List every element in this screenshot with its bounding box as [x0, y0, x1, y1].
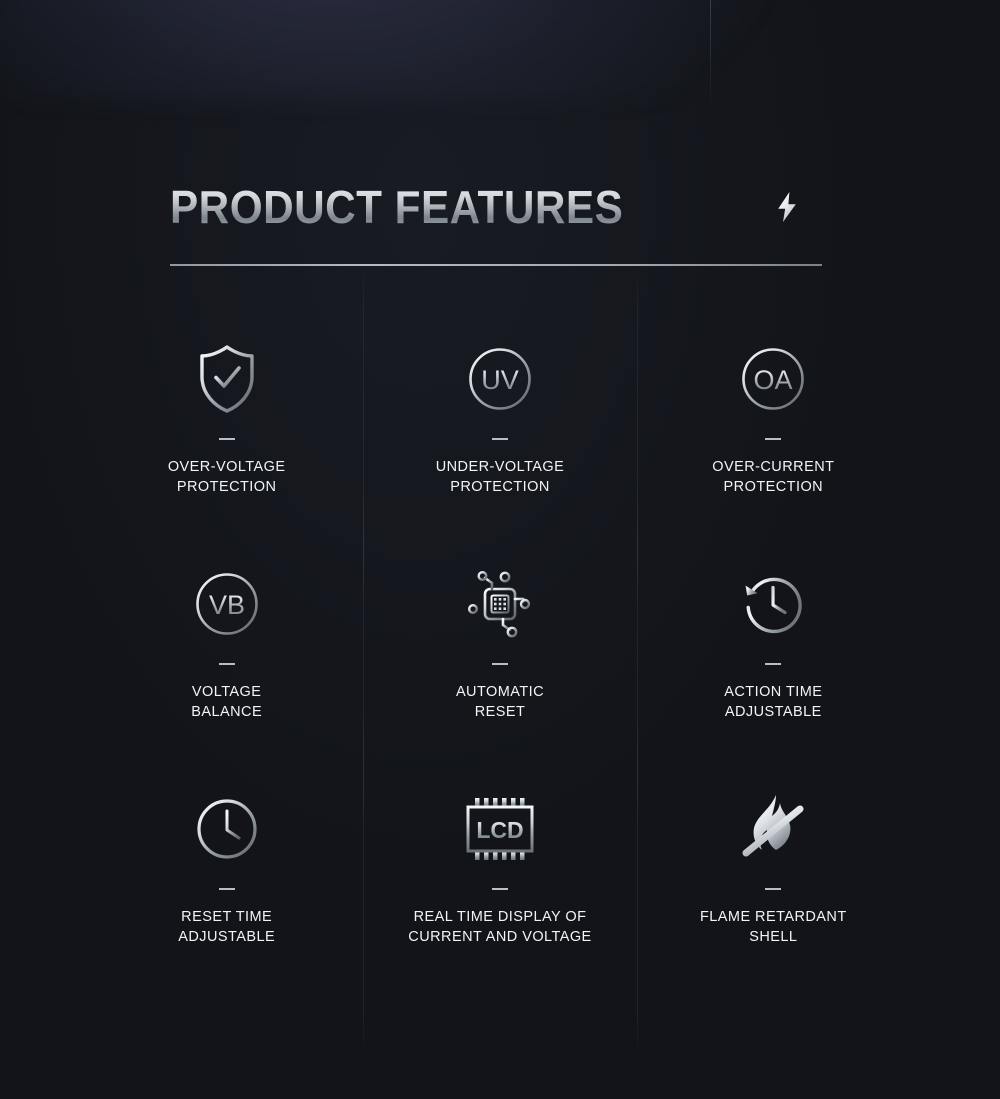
feature-dash: [219, 663, 235, 665]
feature-dash: [492, 888, 508, 890]
feature-item-flame-retardant-shell[interactable]: FLAME RETARDANT SHELL: [637, 772, 910, 997]
feature-dash: [492, 663, 508, 665]
feature-item-action-time-adjustable[interactable]: ACTION TIME ADJUSTABLE: [637, 547, 910, 772]
feature-label: REAL TIME DISPLAY OF CURRENT AND VOLTAGE: [408, 908, 591, 947]
feature-label: FLAME RETARDANT SHELL: [700, 908, 847, 947]
no-flame-icon: [738, 790, 808, 868]
clock-icon: [196, 790, 258, 868]
feature-item-over-voltage-protection[interactable]: OVER-VOLTAGE PROTECTION: [90, 322, 363, 547]
feature-item-reset-time-adjustable[interactable]: RESET TIME ADJUSTABLE: [90, 772, 363, 997]
feature-label: RESET TIME ADJUSTABLE: [178, 908, 275, 947]
oa-badge-text: OA: [754, 365, 793, 395]
uv-badge-text: UV: [481, 365, 519, 395]
feature-item-voltage-balance[interactable]: VB VOLTAGE BALANCE: [90, 547, 363, 772]
feature-dash: [219, 888, 235, 890]
lightning-bolt-icon: [776, 192, 798, 222]
feature-label: OVER-VOLTAGE PROTECTION: [168, 458, 286, 497]
features-grid: OVER-VOLTAGE PROTECTION UV UNDER-VOLTAGE…: [90, 322, 910, 997]
feature-dash: [765, 888, 781, 890]
microchip-icon: [465, 565, 535, 643]
lcd-badge-text: LCD: [476, 817, 523, 843]
feature-label: AUTOMATIC RESET: [456, 683, 544, 722]
header-divider: [170, 264, 822, 266]
vb-circle-icon: VB: [194, 565, 260, 643]
header-seam-decoration: [710, 0, 711, 112]
page-title: PRODUCT FEATURES: [170, 184, 623, 230]
uv-circle-icon: UV: [467, 340, 533, 418]
oa-circle-icon: OA: [740, 340, 806, 418]
feature-item-under-voltage-protection[interactable]: UV UNDER-VOLTAGE PROTECTION: [363, 322, 636, 547]
feature-dash: [219, 438, 235, 440]
section-header: PRODUCT FEATURES: [170, 176, 822, 238]
title-row: PRODUCT FEATURES: [170, 176, 822, 238]
top-glow-decoration: [0, 0, 780, 100]
feature-label: OVER-CURRENT PROTECTION: [712, 458, 834, 497]
clock-rewind-icon: [740, 565, 806, 643]
vb-badge-text: VB: [209, 590, 245, 620]
feature-label: ACTION TIME ADJUSTABLE: [724, 683, 822, 722]
product-features-page: PRODUCT FEATURES OVER-VOLTAGE PROTECTION: [0, 0, 1000, 1099]
feature-item-over-current-protection[interactable]: OA OVER-CURRENT PROTECTION: [637, 322, 910, 547]
feature-dash: [765, 663, 781, 665]
feature-label: VOLTAGE BALANCE: [191, 683, 262, 722]
lcd-chip-icon: LCD: [462, 790, 538, 868]
shield-check-icon: [197, 340, 257, 418]
feature-dash: [492, 438, 508, 440]
feature-item-automatic-reset[interactable]: AUTOMATIC RESET: [363, 547, 636, 772]
feature-label: UNDER-VOLTAGE PROTECTION: [436, 458, 565, 497]
feature-dash: [765, 438, 781, 440]
feature-item-real-time-display[interactable]: LCD REAL TIME DISPLAY OF CURRENT AND VOL…: [363, 772, 636, 997]
